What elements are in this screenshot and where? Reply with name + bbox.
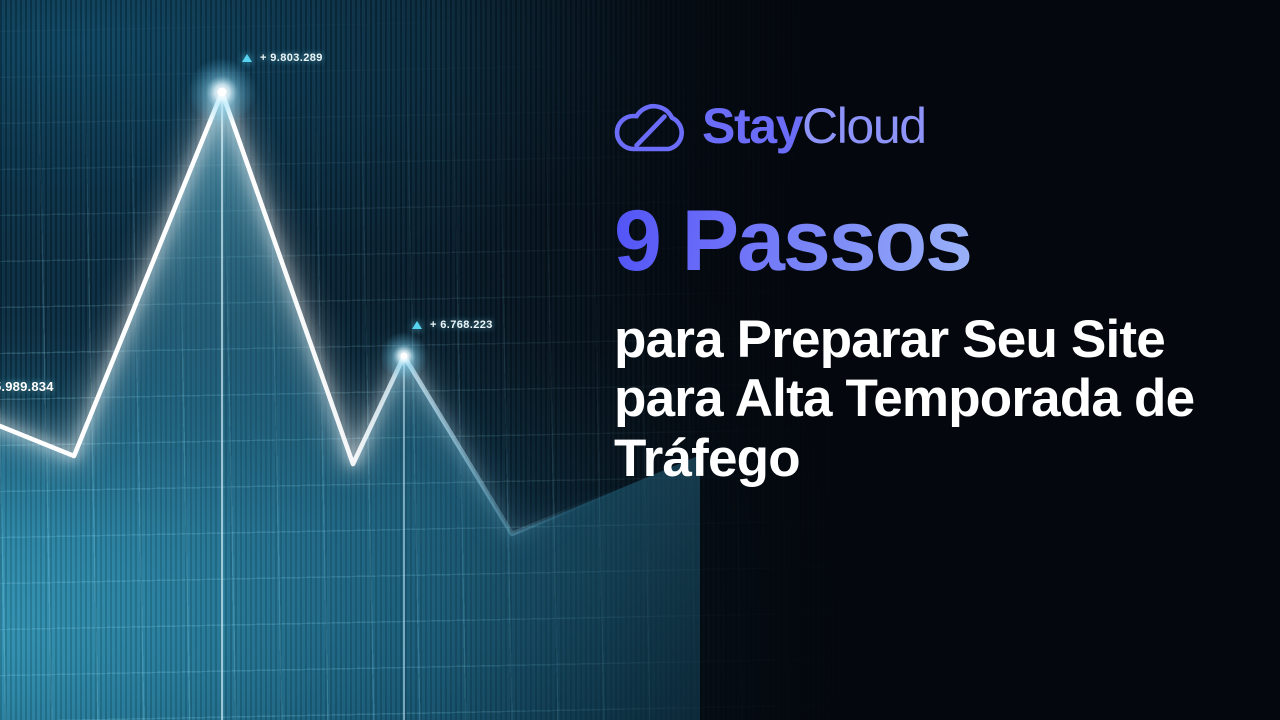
- cloud-icon: [614, 100, 686, 152]
- triangle-up-icon: [242, 54, 252, 62]
- chart-annotation-value: + 9.803.289: [260, 52, 323, 64]
- content-column: StayCloud 9 Passos para Preparar Seu Sit…: [614, 92, 1234, 488]
- triangle-up-icon: [412, 321, 422, 329]
- brand-name-primary: Stay: [702, 98, 802, 154]
- brand-wordmark: StayCloud: [702, 101, 926, 151]
- chart-area-fill: [0, 92, 700, 720]
- chart-annotation-peak-2: + 6.768.223: [412, 319, 493, 331]
- chart-peak-core-1: [218, 88, 227, 97]
- poster-canvas: + 9.803.289 + 6.768.223 5.989.834 StayCl…: [0, 0, 1280, 720]
- brand-logo: StayCloud: [614, 92, 1234, 160]
- headline: 9 Passos: [614, 198, 971, 284]
- chart-annotation-peak-1: + 9.803.289: [242, 52, 323, 64]
- chart-annotation-value: + 6.768.223: [430, 319, 493, 331]
- brand-name-secondary: Cloud: [802, 98, 926, 154]
- chart-peak-core-2: [401, 353, 408, 360]
- chart-axis-label-left: 5.989.834: [0, 379, 54, 394]
- subheadline: para Preparar Seu Site para Alta Tempora…: [614, 310, 1204, 488]
